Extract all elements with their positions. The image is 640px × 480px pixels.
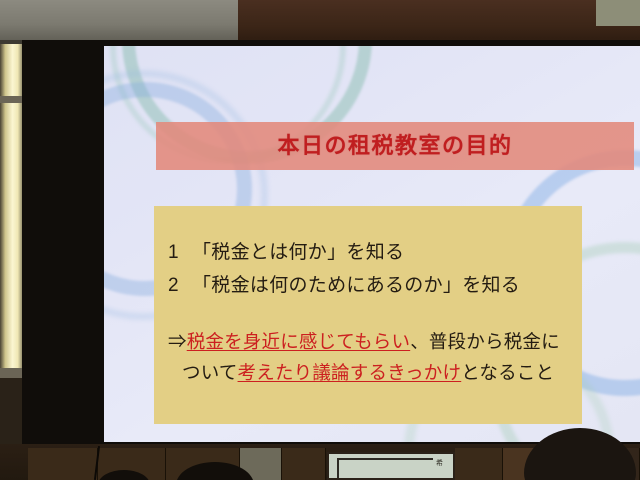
conclusion-highlight-text: 考えたり議論するきっかけ xyxy=(238,362,462,383)
slide-title: 本日の租税教室の目的 xyxy=(277,135,512,157)
conclusion-line-2: ついて考えたり議論するきっかけとなること xyxy=(168,357,582,388)
conclusion-plain-text: 、普段から税金に xyxy=(410,331,560,352)
poster-label: 希 xyxy=(436,458,443,468)
list-item: 1 「税金とは何か」を知る xyxy=(168,236,582,269)
wall-panel xyxy=(455,448,503,480)
poster-drawing xyxy=(337,458,433,478)
ceiling xyxy=(0,0,250,44)
wall-panel xyxy=(28,448,98,480)
projected-slide: 本日の租税教室の目的 1 「税金とは何か」を知る 2 「税金は何のためにあるのか… xyxy=(104,46,640,442)
framed-poster: 希 xyxy=(327,452,455,480)
list-item-number: 2 xyxy=(168,269,192,302)
slide-title-banner: 本日の租税教室の目的 xyxy=(156,122,634,170)
window-frame-top xyxy=(0,96,24,103)
window-frame-bottom xyxy=(0,368,24,378)
photo-scene: 本日の租税教室の目的 1 「税金とは何か」を知る 2 「税金は何のためにあるのか… xyxy=(0,0,640,480)
slide-content-box: 1 「税金とは何か」を知る 2 「税金は何のためにあるのか」を知る ⇒税金を身近… xyxy=(154,206,582,424)
arrow-right-icon: ⇒ xyxy=(168,331,187,352)
wall-corner-patch xyxy=(596,0,640,26)
conclusion-plain-text: となること xyxy=(461,362,554,383)
conclusion-plain-text: ついて xyxy=(182,362,238,383)
list-item-label: 「税金とは何か」を知る xyxy=(192,236,404,269)
list-item-label: 「税金は何のためにあるのか」を知る xyxy=(192,269,520,302)
list-item: 2 「税金は何のためにあるのか」を知る xyxy=(168,269,582,302)
conclusion-highlight-text: 税金を身近に感じてもらい xyxy=(187,331,410,352)
wood-panel-above-screen xyxy=(238,0,640,44)
conclusion-line-1: ⇒税金を身近に感じてもらい、普段から税金に xyxy=(168,326,582,357)
list-item-number: 1 xyxy=(168,236,192,269)
wall-panel xyxy=(282,448,326,480)
conclusion-block: ⇒税金を身近に感じてもらい、普段から税金に ついて考えたり議論するきっかけとなる… xyxy=(168,326,582,388)
